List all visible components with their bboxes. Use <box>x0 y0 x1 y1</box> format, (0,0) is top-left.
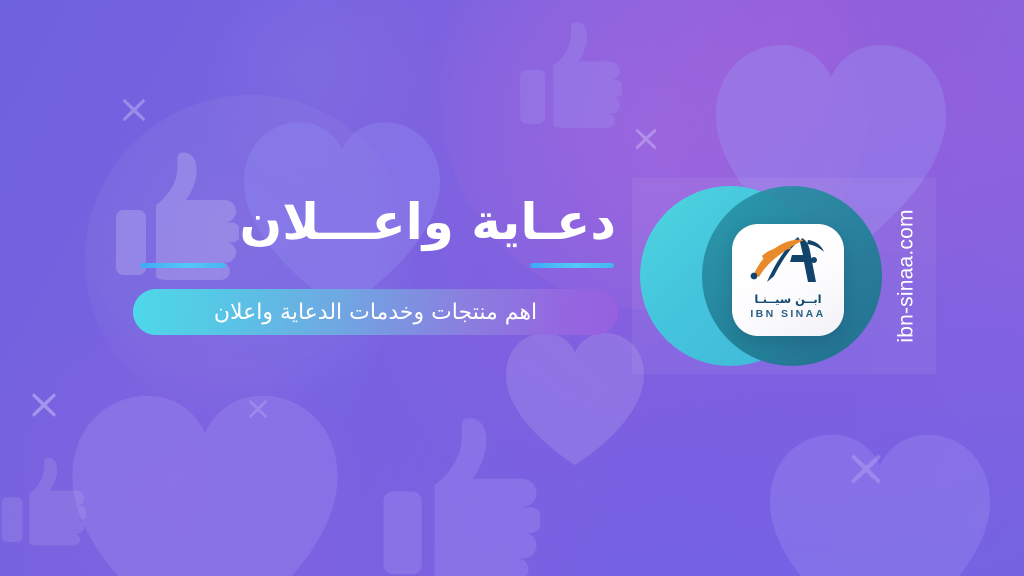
ibn-sinaa-monogram-icon <box>732 230 844 294</box>
x-sparkle-icon <box>245 396 271 422</box>
brand-logo-card[interactable]: ابــن سيــنـا IBN SINAA <box>732 224 844 336</box>
heart-icon <box>760 430 1000 576</box>
thumbs-up-icon <box>0 455 86 550</box>
headline-rule-left <box>140 263 226 268</box>
x-sparkle-icon <box>118 94 150 126</box>
background-blob-bottom <box>0 330 360 576</box>
headline-block: دعـاية واعـــلان <box>0 196 640 275</box>
headline-rule-right <box>530 263 614 268</box>
heart-icon <box>500 330 650 468</box>
page-title: دعـاية واعـــلان <box>0 196 640 249</box>
site-url-strip[interactable]: ibn-sinaa.com <box>886 178 928 374</box>
thumbs-up-icon <box>518 20 622 132</box>
thumbs-up-icon <box>380 415 540 576</box>
heart-icon <box>60 390 350 576</box>
subtitle-pill: اهم منتجات وخدمات الدعاية واعلان <box>133 289 618 335</box>
x-sparkle-icon <box>631 124 661 154</box>
site-url-text: ibn-sinaa.com <box>895 209 919 342</box>
x-sparkle-icon <box>27 388 61 422</box>
logo-arabic-name: ابــن سيــنـا <box>732 292 844 306</box>
subtitle-text: اهم منتجات وخدمات الدعاية واعلان <box>214 300 537 325</box>
background-blob-small <box>180 0 440 200</box>
promo-banner: دعـاية واعـــلان اهم منتجات وخدمات الدعا… <box>0 0 1024 576</box>
x-sparkle-icon <box>845 448 887 490</box>
logo-english-name: IBN SINAA <box>732 308 844 320</box>
headline-rules <box>0 257 640 275</box>
